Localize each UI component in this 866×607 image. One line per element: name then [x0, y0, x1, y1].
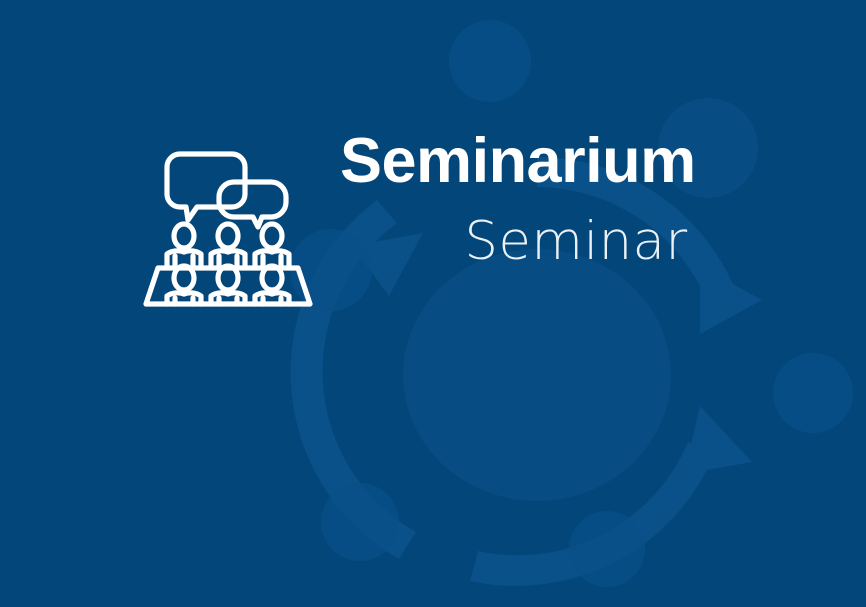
banner-content: Seminarium Seminar	[0, 0, 866, 607]
seminar-audience-icon	[140, 132, 316, 308]
banner-row: Seminarium Seminar	[140, 126, 696, 308]
seminar-banner-card: Seminarium Seminar	[0, 0, 866, 607]
page-title: Seminarium	[340, 130, 696, 193]
speech-bubble-large	[167, 154, 245, 220]
text-block: Seminarium Seminar	[340, 126, 696, 268]
audience-table	[146, 268, 310, 304]
audience-row-back	[167, 224, 289, 266]
audience-row-front	[167, 266, 289, 304]
page-subtitle: Seminar	[464, 215, 687, 268]
